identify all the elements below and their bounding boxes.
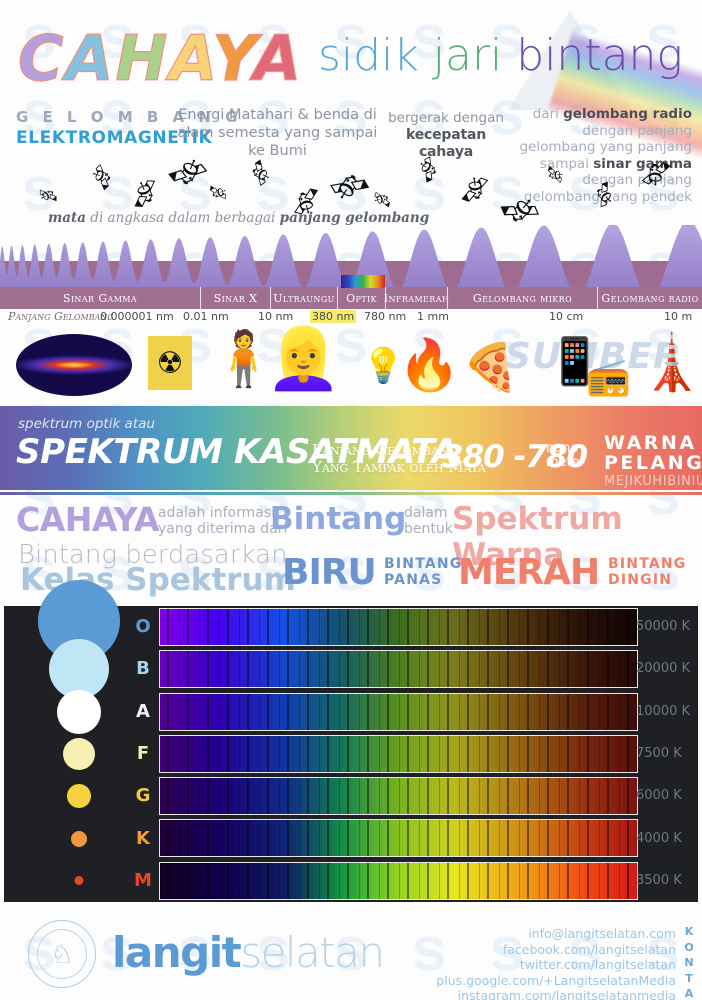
em-band-optik: Optik	[337, 287, 385, 309]
stmt-bintang-dingin: BINTANG DINGIN	[608, 556, 687, 588]
spectrum-intensity-mask	[160, 651, 637, 687]
temperature-label-A: 10000 K	[636, 704, 702, 719]
title-letter: H	[116, 22, 170, 95]
mejikuhibiniu-label: MEJIKUHIBINIU	[604, 474, 702, 489]
spectrum-strip-M	[159, 862, 638, 900]
warna-line2: PELANGI	[604, 453, 702, 473]
stmt-cahaya: CAHAYA	[16, 500, 159, 539]
spectrum-intensity-mask	[160, 736, 637, 772]
star-size-circle-F	[63, 738, 95, 770]
uv-sunbathing-woman-icon: 👱‍♀️	[266, 328, 341, 390]
satellite-icon: 🛰	[411, 153, 444, 188]
wave-caption-pre: mata	[48, 210, 86, 226]
spectrum-strip-A	[159, 693, 638, 731]
contact-link[interactable]: info@langitselatan.com	[436, 926, 676, 942]
stmt-biru: BIRU	[282, 552, 376, 593]
stmt-dalam-line2: bentuk	[404, 521, 453, 537]
satellite-icon: 🛰	[83, 160, 119, 196]
stmt-panas-line1: BINTANG	[384, 556, 463, 572]
star-size-circle-M	[75, 876, 84, 885]
contact-link[interactable]: instagram.com/langitselatanmedia	[436, 988, 676, 1000]
spectrum-strip-F	[159, 735, 638, 773]
star-size-circle-A	[57, 690, 101, 734]
wavelength-mark: 10 cm	[549, 310, 583, 323]
warna-pelangi-label: WARNA PELANGI	[604, 433, 702, 473]
spectral-class-letter-B: B	[126, 658, 160, 679]
brand-logo[interactable]: langitselatan	[112, 928, 384, 977]
contact-link[interactable]: facebook.com/langitselatan	[436, 942, 676, 958]
satellite-icon: 🛰	[244, 154, 279, 190]
kontak-letter: A	[682, 986, 696, 1000]
spectrum-strip-B	[159, 650, 638, 688]
page-subtitle: sidik jari bintang	[318, 30, 683, 81]
visible-spectrum-panel: spektrum optik atau SPEKTRUM KASATMATA P…	[0, 406, 702, 490]
langitselatan-seal-logo: ♘	[28, 920, 96, 988]
spectrum-intensity-mask	[160, 820, 637, 856]
title-letter: A	[169, 22, 212, 95]
wavelength-mark: 0.01 nm	[183, 310, 229, 323]
contact-link[interactable]: twitter.com/langitselatan	[436, 957, 676, 973]
spectral-class-letter-M: M	[126, 870, 160, 891]
stmt-dingin-line2: DINGIN	[608, 572, 687, 588]
kontak-letter: K	[682, 924, 696, 940]
visible-unit-line1: nano	[546, 442, 585, 456]
stmt-panas-line2: PANAS	[384, 572, 463, 588]
temperature-label-M: 3500 K	[636, 873, 702, 888]
wavelength-mark: 1 mm	[417, 310, 449, 323]
spectrum-strip-G	[159, 777, 638, 815]
kontak-letter: N	[682, 955, 696, 971]
wavelength-mark: 380 nm	[310, 310, 356, 323]
temperature-column: 50000 K20000 K10000 K7500 K6000 K4000 K3…	[636, 606, 702, 902]
stmt-adalah-informasi: adalah informasi yang diterima dari	[158, 505, 287, 537]
temperature-label-K: 4000 K	[636, 831, 702, 846]
spectral-class-panel: OBAFGKM	[4, 606, 698, 902]
wavelength-mark: 0.000001 nm	[100, 310, 174, 323]
wavelength-mark: 10 m	[664, 310, 692, 323]
spectrum-intensity-mask	[160, 694, 637, 730]
optical-spectrum-swatch	[341, 275, 385, 288]
wavelength-mark: 780 nm	[364, 310, 406, 323]
radio-receiver-icon: 📻	[586, 356, 631, 398]
spectrum-strip-O	[159, 608, 638, 646]
visible-sub-label: spektrum optik atau	[18, 416, 155, 432]
kontak-letter: T	[682, 971, 696, 987]
title-letter: Y	[212, 22, 253, 95]
temperature-label-G: 6000 K	[636, 788, 702, 803]
spectral-class-letter-O: O	[126, 616, 160, 637]
rainbow-divider	[0, 492, 702, 495]
stmt-merah: MERAH	[458, 552, 599, 593]
wavelength-scale-row: Panjang Gelombang 0.000001 nm0.01 nm10 n…	[0, 310, 702, 326]
intro-range-part: dari	[533, 106, 563, 122]
statement-block: CAHAYA adalah informasi yang diterima da…	[0, 492, 702, 598]
star-size-circle-G	[67, 784, 91, 808]
kontak-letter: O	[682, 940, 696, 956]
em-band-gelombang-radio: Gelombang radio	[597, 287, 702, 309]
title-letter: A	[66, 22, 116, 95]
satellite-icon: 🛰	[370, 188, 395, 213]
wave-caption-mid: di angkasa dalam berbagai	[86, 210, 280, 226]
subtitle-word: jari	[433, 30, 517, 81]
em-band-sinar-x: Sinar X	[200, 287, 270, 309]
satellite-icon: 🛰	[207, 181, 230, 204]
footer: ♘ langitselatan info@langitselatan.comfa…	[0, 906, 702, 1000]
infrared-heater-icon: 🔥	[398, 336, 460, 395]
em-band-inframerah: Inframerah	[385, 287, 447, 309]
intro-range-part: gelombang radio	[563, 106, 692, 122]
radio-tower-icon: 🗼	[638, 332, 702, 395]
header: CAHAYA sidik jari bintang	[0, 0, 702, 100]
satellite-icon: 🛰	[542, 161, 569, 188]
title-letter: C	[18, 22, 66, 95]
stmt-bintang: Bintang	[270, 501, 406, 537]
satellite-icon: 🛰	[128, 176, 161, 211]
satellite-icon: 🛰	[635, 152, 678, 196]
title-letter: A	[253, 22, 303, 95]
page-title: CAHAYA	[18, 22, 303, 95]
star-size-circle-K	[71, 831, 87, 847]
seal-emblem-icon: ♘	[37, 929, 87, 979]
satellite-icon: 🛰	[454, 169, 494, 211]
visible-unit-line2: meter	[546, 456, 585, 470]
stmt-dingin-line1: BINTANG	[608, 556, 687, 572]
spectra-strips-column	[159, 606, 638, 902]
wavelength-scale-title: Panjang Gelombang	[8, 310, 114, 323]
subtitle-word: bintang	[516, 30, 683, 81]
spectrum-strip-K	[159, 819, 638, 857]
kontak-vertical-label: KONTAK	[682, 924, 696, 1000]
contact-link[interactable]: plus.google.com/+LangitselatanMedia	[436, 973, 676, 989]
em-band-sinar-gamma: Sinar Gamma	[0, 287, 200, 309]
contact-list: info@langitselatan.comfacebook.com/langi…	[436, 926, 676, 1000]
stmt-dalam-bentuk: dalam bentuk	[404, 505, 453, 537]
spectral-class-letter-A: A	[126, 701, 160, 722]
visible-unit-label: nano meter	[546, 442, 585, 470]
em-band-ultraungu: Ultraungu	[270, 287, 337, 309]
spectral-class-letter-G: G	[126, 785, 160, 806]
satellite-icon: 🛰	[38, 186, 58, 206]
warna-line1: WARNA	[604, 433, 702, 453]
brand-logo-bold: langit	[112, 928, 240, 977]
stmt-dalam-line1: dalam	[404, 505, 453, 521]
temperature-label-F: 7500 K	[636, 746, 702, 761]
wave-caption: mata di angkasa dalam berbagai panjang g…	[48, 210, 429, 226]
em-band-bar: Sinar GammaSinar XUltraunguOptikInframer…	[0, 287, 702, 309]
spectrum-intensity-mask	[160, 609, 637, 645]
spectral-class-letter-K: K	[126, 828, 160, 849]
satellite-icon: 🛰	[323, 161, 376, 213]
wave-caption-bold: panjang gelombang	[280, 210, 429, 226]
spectrum-intensity-mask	[160, 863, 637, 899]
temperature-label-B: 20000 K	[636, 661, 702, 676]
satellite-icon: 🛰	[590, 177, 621, 210]
spectral-class-letter-F: F	[126, 743, 160, 764]
spectral-letters-column: OBAFGKM	[126, 606, 160, 902]
stmt-adalah-line2: yang diterima dari	[158, 521, 287, 537]
intro-speed-line1: bergerak dengan	[386, 110, 506, 127]
stmt-bintang-panas: BINTANG PANAS	[384, 556, 463, 588]
temperature-label-O: 50000 K	[636, 619, 702, 634]
galaxy-gamma-map-icon	[16, 334, 132, 396]
infographic-page: ssssssssssssssssssssssssssssssssssssssss…	[0, 0, 702, 1000]
stmt-adalah-line1: adalah informasi	[158, 505, 287, 521]
wavelength-mark: 10 nm	[258, 310, 293, 323]
source-icons-row: ☢ 🧍 👱‍♀️ 💡 🔥 🍕 📱 📻 🗼	[0, 326, 702, 404]
em-band-gelombang-mikro: Gelombang mikro	[447, 287, 597, 309]
brand-logo-thin: selatan	[240, 928, 383, 977]
spectrum-intensity-mask	[160, 778, 637, 814]
radioactive-sign-icon: ☢	[148, 336, 192, 390]
satellite-icon: 🛰	[161, 146, 215, 200]
subtitle-word: sidik	[318, 30, 433, 81]
microwave-oven-icon: 🍕	[462, 340, 519, 395]
